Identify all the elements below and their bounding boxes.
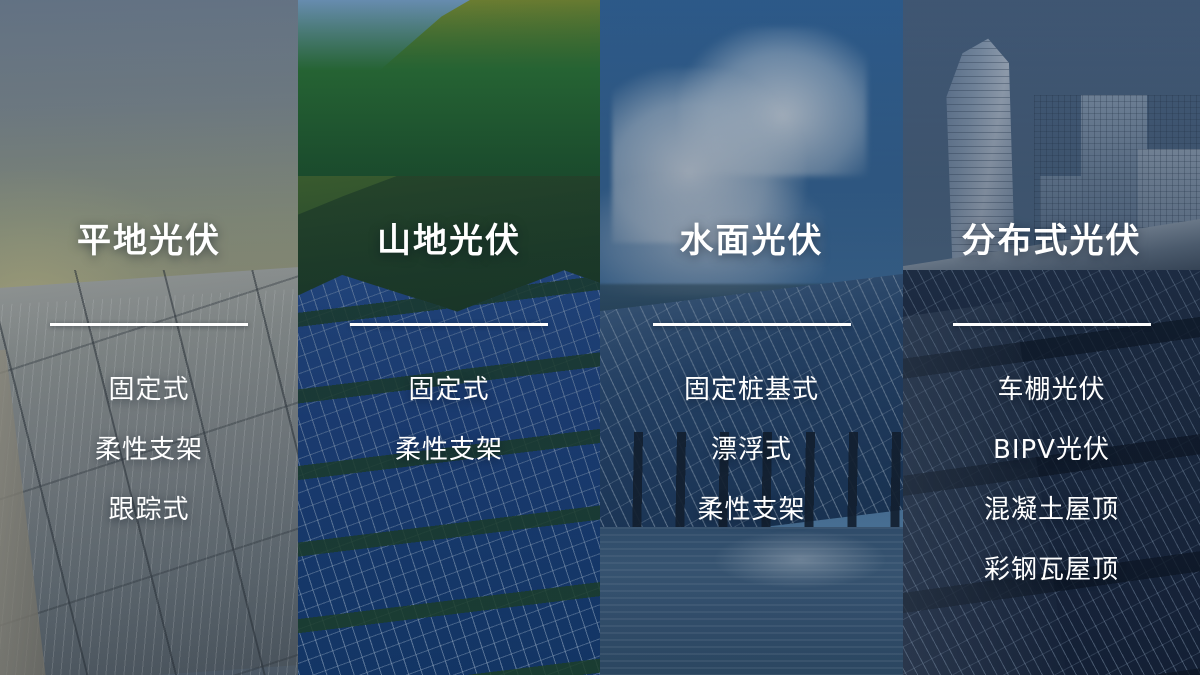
list-item[interactable]: BIPV光伏 bbox=[993, 420, 1110, 480]
panel-item-list: 固定式 柔性支架 bbox=[395, 360, 503, 480]
list-item[interactable]: 漂浮式 bbox=[711, 420, 792, 480]
panel-title: 平地光伏 bbox=[77, 224, 221, 258]
list-item[interactable]: 跟踪式 bbox=[108, 480, 189, 540]
title-divider-rule bbox=[50, 323, 248, 326]
title-divider-rule bbox=[350, 323, 548, 326]
title-divider-rule bbox=[653, 323, 851, 326]
panel-item-list: 车棚光伏 BIPV光伏 混凝土屋顶 彩钢瓦屋顶 bbox=[984, 360, 1119, 600]
list-item[interactable]: 车棚光伏 bbox=[997, 360, 1105, 420]
list-item[interactable]: 混凝土屋顶 bbox=[984, 480, 1119, 540]
panel-item-list: 固定桩基式 漂浮式 柔性支架 bbox=[684, 360, 819, 540]
panel-water-surface-pv[interactable]: 水面光伏 固定桩基式 漂浮式 柔性支架 bbox=[600, 0, 903, 675]
list-item[interactable]: 柔性支架 bbox=[395, 420, 503, 480]
panel-flat-ground-pv[interactable]: 平地光伏 固定式 柔性支架 跟踪式 bbox=[0, 0, 298, 675]
list-item[interactable]: 固定桩基式 bbox=[684, 360, 819, 420]
panel-title: 水面光伏 bbox=[680, 224, 824, 258]
list-item[interactable]: 柔性支架 bbox=[95, 420, 203, 480]
panel-distributed-pv[interactable]: 分布式光伏 车棚光伏 BIPV光伏 混凝土屋顶 彩钢瓦屋顶 bbox=[903, 0, 1200, 675]
list-item[interactable]: 固定式 bbox=[108, 360, 189, 420]
list-item[interactable]: 柔性支架 bbox=[697, 480, 805, 540]
panel-title: 山地光伏 bbox=[377, 224, 521, 258]
title-divider-rule bbox=[953, 323, 1151, 326]
panel-title: 分布式光伏 bbox=[962, 224, 1142, 258]
panel-mountain-pv[interactable]: 山地光伏 固定式 柔性支架 bbox=[298, 0, 600, 675]
list-item[interactable]: 彩钢瓦屋顶 bbox=[984, 540, 1119, 600]
panel-item-list: 固定式 柔性支架 跟踪式 bbox=[95, 360, 203, 540]
list-item[interactable]: 固定式 bbox=[408, 360, 489, 420]
pv-category-board: 平地光伏 固定式 柔性支架 跟踪式 山地光伏 固定式 柔性支架 bbox=[0, 0, 1200, 675]
